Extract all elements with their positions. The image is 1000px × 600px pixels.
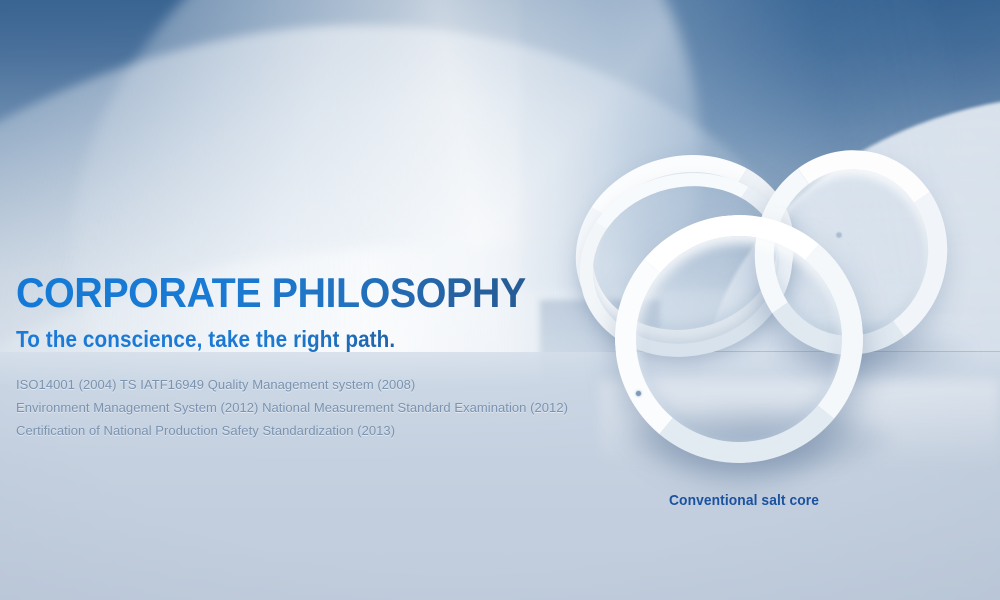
certification-line: Environment Management System (2012) Nat… <box>16 396 636 419</box>
certification-line: Certification of National Production Saf… <box>16 419 636 442</box>
back-right-ring-pin-hole <box>837 233 841 237</box>
salt-core-rings-image <box>575 150 1000 520</box>
certification-line: ISO14001 (2004) TS IATF16949 Quality Man… <box>16 373 636 396</box>
product-caption: Conventional salt core <box>669 492 819 509</box>
certification-list: ISO14001 (2004) TS IATF16949 Quality Man… <box>16 373 636 442</box>
front-ring-pin-hole <box>636 391 641 396</box>
page-subtitle: To the conscience, take the right path. <box>16 326 574 353</box>
page-title: CORPORATE PHILOSOPHY <box>16 270 599 316</box>
banner-text-block: CORPORATE PHILOSOPHY To the conscience, … <box>16 270 636 442</box>
corporate-philosophy-banner: CORPORATE PHILOSOPHY To the conscience, … <box>0 0 1000 600</box>
